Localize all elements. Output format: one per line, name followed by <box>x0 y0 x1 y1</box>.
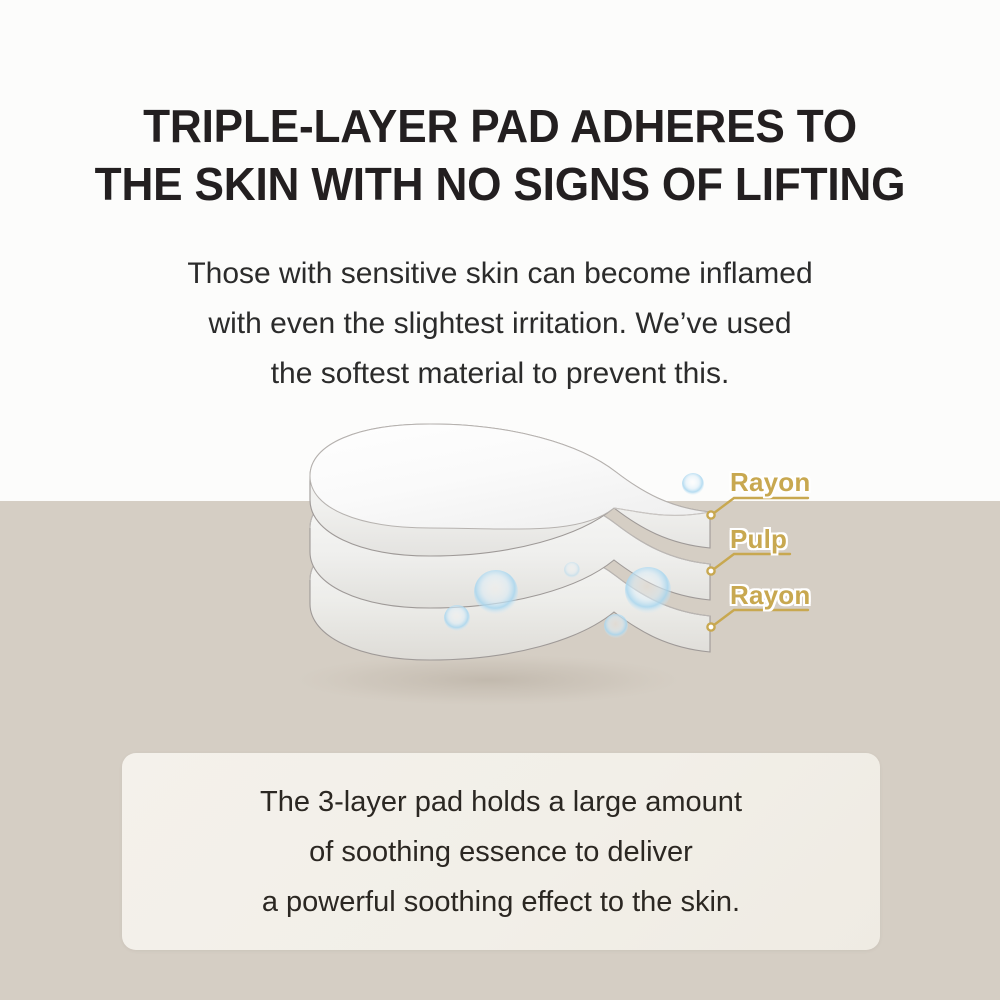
droplet-icon <box>444 605 470 631</box>
callout-label-rayon-top: Rayon <box>730 467 810 498</box>
leader-dot-icon <box>707 567 714 574</box>
leader-line-rayon-top <box>714 498 808 513</box>
droplet-icon <box>604 614 628 638</box>
caption-card: The 3-layer pad holds a large amount of … <box>122 753 880 950</box>
droplet-icon <box>625 567 671 613</box>
callout-label-rayon-bottom: Rayon <box>730 580 810 611</box>
caption-text: The 3-layer pad holds a large amount of … <box>260 777 742 927</box>
leader-dot-icon <box>707 511 714 518</box>
leader-line-pulp <box>714 554 790 569</box>
droplet-icon <box>564 562 580 578</box>
subtitle-text: Those with sensitive skin can become inf… <box>0 249 1000 399</box>
pad-layer-top-rayon <box>310 424 710 556</box>
page-title: TRIPLE-LAYER PAD ADHERES TO THE SKIN WIT… <box>20 97 980 213</box>
droplet-icon <box>474 570 518 614</box>
leader-line-rayon-bottom <box>714 610 808 625</box>
infographic-page: TRIPLE-LAYER PAD ADHERES TO THE SKIN WIT… <box>0 0 1000 1000</box>
pad-ground-shadow <box>293 654 683 706</box>
leader-dot-icon <box>707 623 714 630</box>
callout-label-pulp: Pulp <box>730 524 787 555</box>
